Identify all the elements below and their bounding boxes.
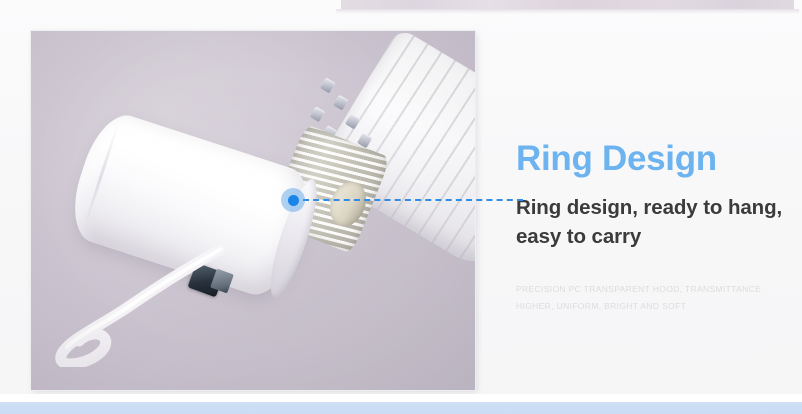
feature-banner-page: Ring Design Ring design, ready to hang, … (0, 0, 802, 414)
callout-marker-dot[interactable] (281, 188, 305, 212)
feature-text-column: Ring Design Ring design, ready to hang, … (516, 140, 786, 315)
next-section-sliver (0, 402, 802, 414)
section-gap (0, 394, 802, 402)
callout-leader-line (303, 199, 523, 201)
feature-fineprint: PRECISION PC TRANSPARENT HOOD, TRANSMITT… (516, 281, 776, 315)
feature-headline: Ring Design (516, 140, 786, 178)
photo-vignette (31, 31, 475, 390)
feature-subheadline: Ring design, ready to hang, easy to carr… (516, 193, 786, 251)
previous-banner-shadow (336, 9, 799, 14)
product-photo (31, 31, 475, 390)
